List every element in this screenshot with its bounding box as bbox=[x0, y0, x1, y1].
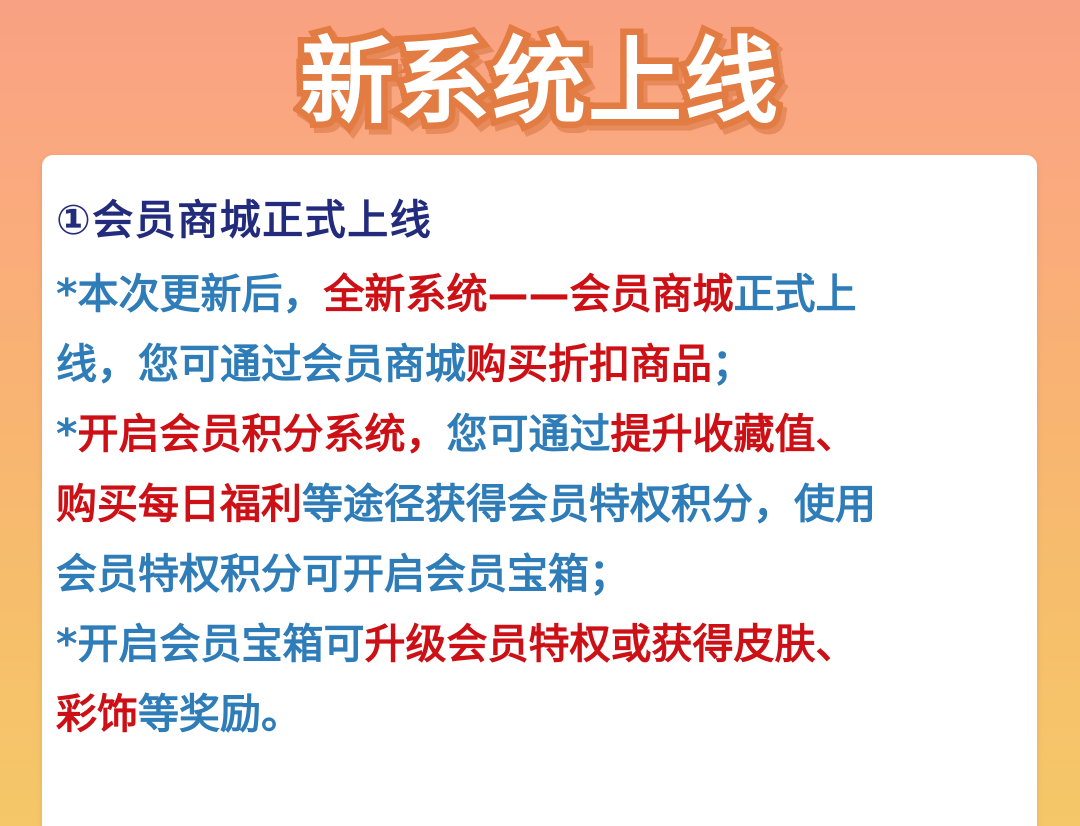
text-line-6: *开启会员宝箱可升级会员特权或获得皮肤、 bbox=[56, 609, 1017, 679]
text-segment: *开启会员宝箱可 bbox=[56, 620, 364, 668]
text-line-3: *开启会员积分系统，您可通过提升收藏值、 bbox=[56, 399, 1017, 469]
announcement-body: ①会员商城正式上线 *本次更新后，全新系统——会员商城正式上 线，您可通过会员商… bbox=[56, 185, 1017, 749]
heading-label: 会员商城正式上线 bbox=[92, 196, 432, 244]
text-segment: 正式上 bbox=[733, 270, 856, 318]
text-segment: 等奖励。 bbox=[138, 690, 302, 738]
text-segment: 全新系统——会员商城 bbox=[323, 270, 733, 318]
content-card: ①会员商城正式上线 *本次更新后，全新系统——会员商城正式上 线，您可通过会员商… bbox=[42, 155, 1037, 826]
page-title: 新系统上线 bbox=[300, 36, 780, 130]
text-line-5: 会员特权积分可开启会员宝箱； bbox=[56, 539, 1017, 609]
text-segment: 开启会员积分系统， bbox=[77, 410, 446, 458]
text-segment: ； bbox=[712, 340, 753, 388]
text-segment: 购买每日福利 bbox=[56, 480, 302, 528]
heading-marker: ① bbox=[56, 196, 92, 244]
text-segment: 购买折扣商品 bbox=[466, 340, 712, 388]
text-segment: 彩饰 bbox=[56, 690, 138, 738]
text-segment: *本次更新后， bbox=[56, 270, 323, 318]
text-line-2: 线，您可通过会员商城购买折扣商品； bbox=[56, 329, 1017, 399]
text-line-4: 购买每日福利等途径获得会员特权积分，使用 bbox=[56, 469, 1017, 539]
banner-header: 新系统上线 bbox=[0, 0, 1080, 158]
text-segment: 会员特权积分可开启会员宝箱； bbox=[56, 550, 630, 598]
text-line-1: *本次更新后，全新系统——会员商城正式上 bbox=[56, 259, 1017, 329]
text-segment: 线，您可通过会员商城 bbox=[56, 340, 466, 388]
text-segment: 提升收藏值、 bbox=[610, 410, 856, 458]
text-segment: 等途径获得会员特权积分，使用 bbox=[302, 480, 876, 528]
text-line-7: 彩饰等奖励。 bbox=[56, 679, 1017, 749]
text-segment: 升级会员特权或获得皮肤、 bbox=[364, 620, 856, 668]
text-segment: 您可通过 bbox=[446, 410, 610, 458]
text-segment: * bbox=[56, 410, 77, 458]
section-heading: ①会员商城正式上线 bbox=[56, 185, 1017, 259]
